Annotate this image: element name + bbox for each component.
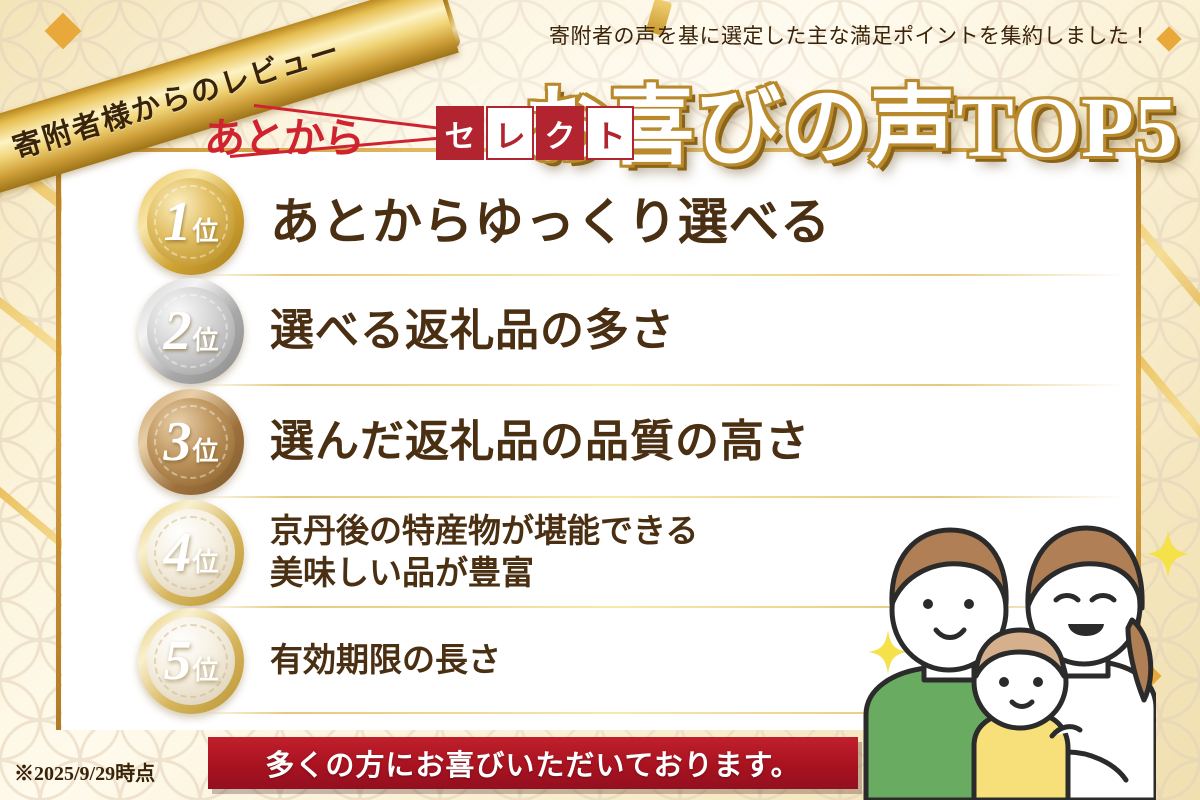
date-note: ※2025/9/29時点 [14, 757, 155, 786]
rank-suffix: 位 [192, 431, 218, 468]
medal-label: 1 位 [163, 194, 218, 250]
ranking-row: 1 位 あとからゆっくり選べる [62, 168, 1136, 276]
ranking-row: 2 位 選べる返礼品の多さ [62, 276, 1136, 386]
rank-medal-4: 4 位 [138, 500, 244, 606]
rank-text-block: 有効期限の長さ [270, 640, 501, 682]
rank-suffix: 位 [192, 542, 218, 579]
rank-number: 4 [163, 525, 191, 581]
rank-text-block: 選んだ返礼品の品質の高さ [270, 414, 810, 470]
panel-border-left [56, 152, 61, 730]
medal-label: 2 位 [163, 303, 218, 359]
rank-text-block: あとからゆっくり選べる [270, 190, 831, 254]
rank-text-block: 選べる返礼品の多さ [270, 303, 675, 359]
logo-box-char: ク [536, 106, 584, 160]
logo-box-char: ト [586, 106, 634, 160]
rank-text-line1: 選べる返礼品の多さ [270, 303, 675, 359]
rank-medal-2: 2 位 [138, 278, 244, 384]
logo-box-char: セ [436, 106, 484, 160]
rank-text-line1: 京丹後の特産物が堪能できる [270, 511, 698, 553]
rank-text-line2: 美味しい品が豊富 [270, 553, 698, 595]
logo-script-text: あとから [204, 104, 364, 164]
footer-banner: 多くの方にお喜びいただいております。 [208, 737, 858, 789]
rank-number: 1 [163, 194, 191, 250]
ranking-row: 3 位 選んだ返礼品の品質の高さ [62, 386, 1136, 498]
logo-box-char: レ [486, 106, 534, 160]
logo-box-group: セ レ ク ト [436, 106, 634, 160]
rank-medal-5: 5 位 [138, 608, 244, 714]
subtitle-text: 寄附者の声を基に選定した主な満足ポイントを集約しました！ [520, 20, 1180, 50]
rank-suffix: 位 [192, 320, 218, 357]
rank-text-block: 京丹後の特産物が堪能できる 美味しい品が豊富 [270, 511, 698, 595]
banner-canvas: 寄附者様からのレビュー 寄附者の声を基に選定した主な満足ポイントを集約しました！… [0, 0, 1200, 800]
medal-label: 4 位 [163, 525, 218, 581]
rank-suffix: 位 [192, 211, 218, 248]
rank-text-line1: 選んだ返礼品の品質の高さ [270, 414, 810, 470]
rank-medal-1: 1 位 [138, 169, 244, 275]
family-illustration [856, 500, 1156, 800]
medal-label: 3 位 [163, 414, 218, 470]
footer-banner-text: 多くの方にお喜びいただいております。 [265, 742, 800, 784]
rank-text-line1: あとからゆっくり選べる [270, 190, 831, 254]
medal-label: 5 位 [163, 633, 218, 689]
rank-number: 3 [163, 414, 191, 470]
rank-medal-3: 3 位 [138, 389, 244, 495]
atokara-select-logo: あとから セ レ ク ト [196, 98, 516, 168]
rank-suffix: 位 [192, 650, 218, 687]
rank-text-line1: 有効期限の長さ [270, 640, 501, 682]
rank-number: 2 [163, 303, 191, 359]
rank-number: 5 [163, 633, 191, 689]
